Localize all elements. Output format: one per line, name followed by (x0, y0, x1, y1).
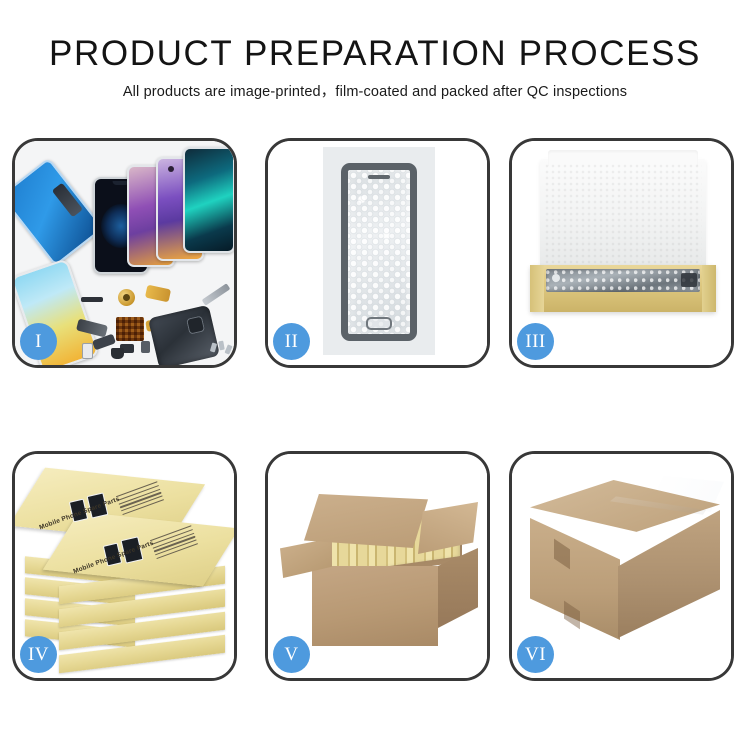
product-preparation-infographic: PRODUCT PREPARATION PROCESS All products… (0, 0, 750, 750)
step-badge-5: V (273, 636, 310, 673)
open-shipping-carton (282, 488, 478, 652)
carton-front-face (312, 566, 438, 646)
bubble-wrap-texture (348, 170, 410, 334)
photo-backdrop (323, 147, 435, 355)
white-foam-pad (540, 159, 706, 269)
chip-grid-part (116, 317, 144, 341)
screws-group (211, 341, 233, 355)
kraft-box-tray (530, 265, 716, 312)
home-button (366, 317, 392, 330)
process-step-panel-5: V (265, 451, 490, 681)
earpiece-mesh-part (81, 297, 103, 302)
step-badge-2: II (273, 323, 310, 360)
flex-cable-part-1 (145, 285, 171, 303)
foam-texture (544, 163, 702, 265)
step-badge-6: VI (517, 636, 554, 673)
process-step-panel-2: II (265, 138, 490, 368)
small-module-part-2 (141, 341, 150, 353)
copper-coil-part (118, 289, 135, 306)
bubble-wrapped-screen (341, 163, 417, 341)
page-subtitle: All products are image-printed，film-coat… (0, 83, 750, 101)
carton-flap-top (304, 494, 428, 548)
earpiece-slot (368, 175, 390, 179)
tweezers-tool (202, 283, 231, 306)
page-title: PRODUCT PREPARATION PROCESS (0, 34, 750, 74)
bubble-highlight (552, 274, 560, 282)
step-badge-4: IV (20, 636, 57, 673)
header: PRODUCT PREPARATION PROCESS All products… (0, 34, 750, 101)
step-badge-3: III (517, 323, 554, 360)
retail-box-stack: Mobile Phone Spare Parts Mobile Phone Sp… (23, 466, 229, 666)
sealed-shipping-carton (530, 480, 720, 650)
process-step-panel-3: III (509, 138, 734, 368)
step-badge-1: I (20, 323, 57, 360)
small-module-part-4 (111, 348, 124, 359)
phone-back-housing (148, 305, 220, 365)
phone-screen-blue (15, 157, 104, 266)
process-step-panel-1: I (12, 138, 237, 368)
phone-screen-teal (183, 147, 234, 253)
process-step-panel-6: VI (509, 451, 734, 681)
process-step-grid: I II (12, 138, 738, 683)
process-step-panel-4: Mobile Phone Spare Parts Mobile Phone Sp… (12, 451, 237, 681)
carton-flap-right (418, 502, 478, 554)
wrapped-screen-in-box (546, 269, 700, 292)
small-module-part-3 (82, 343, 93, 359)
